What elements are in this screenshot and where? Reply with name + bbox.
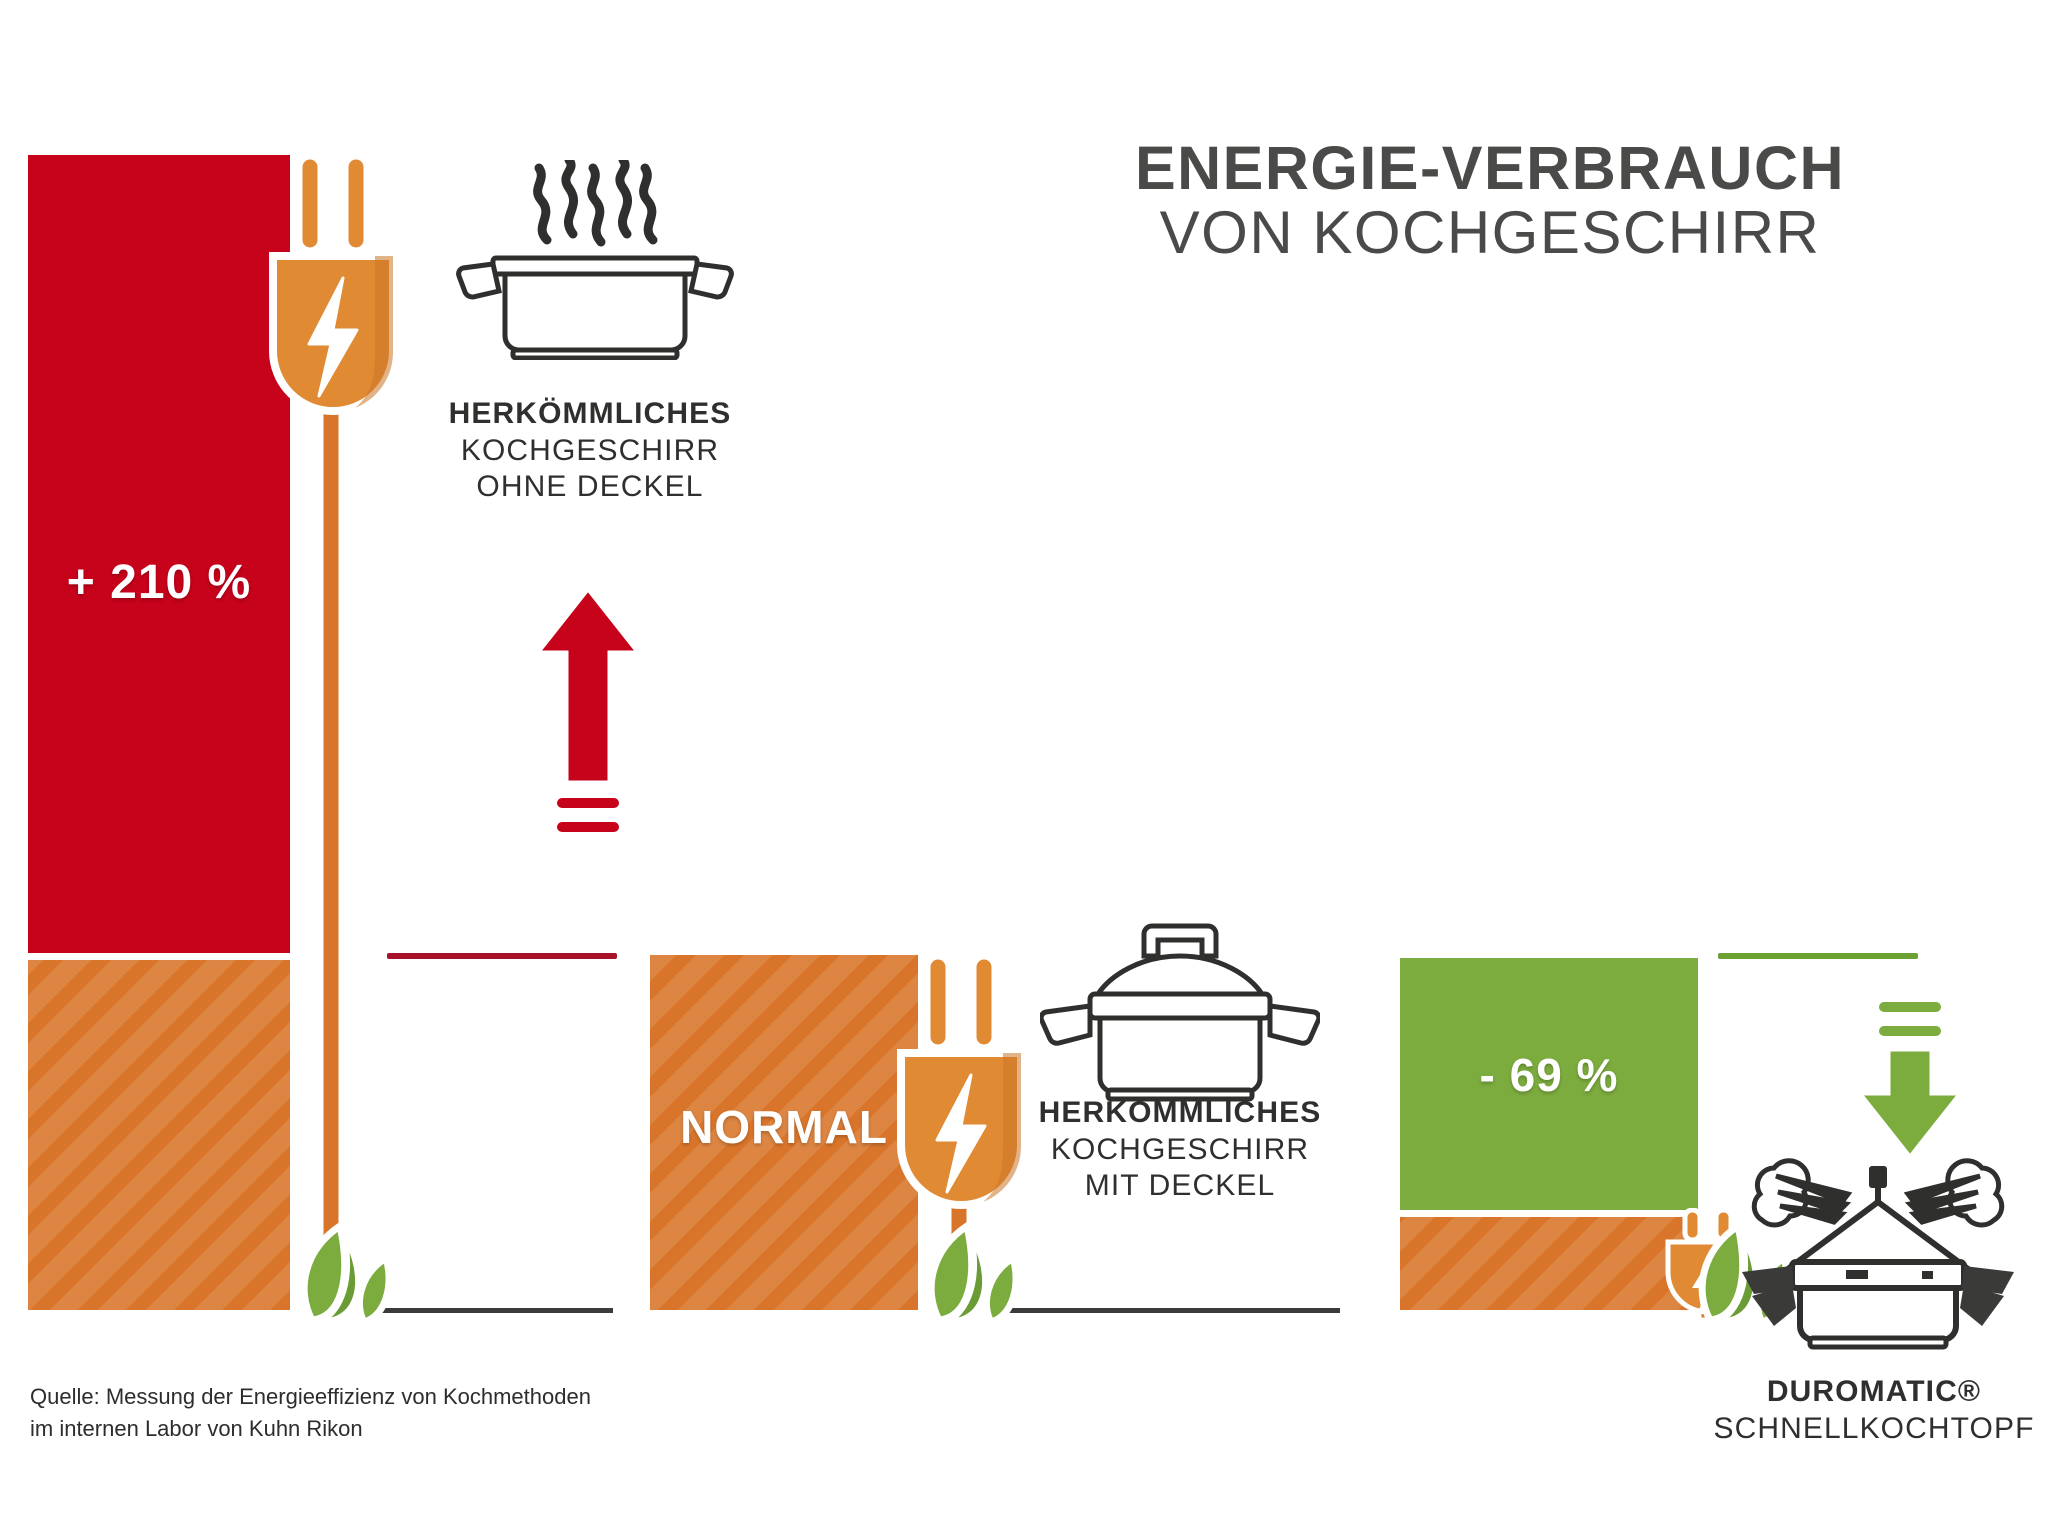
caption-bar-2: HERKÖMMLICHES KOCHGESCHIRR MIT DECKEL xyxy=(1010,1095,1350,1205)
bar-segment-red xyxy=(28,155,290,960)
bar-segment-orange xyxy=(650,955,918,1310)
source-note: Quelle: Messung der Energieeffizienz von… xyxy=(30,1381,770,1445)
bar-duromatic: - 69 % xyxy=(1400,958,1698,1310)
caption-line-3: MIT DECKEL xyxy=(1010,1168,1350,1205)
power-plug-icon xyxy=(265,148,400,1308)
arrow-up-red xyxy=(533,586,643,840)
leaves-icon xyxy=(290,1222,400,1327)
pressure-cooker-icon xyxy=(1738,1148,2018,1353)
caption-line-1: HERKÖMMLICHES xyxy=(1010,1095,1350,1132)
caption-bar-3: DUROMATIC® SCHNELLKOCHTOPF xyxy=(1700,1374,2048,1447)
bar-segment-divider xyxy=(28,953,290,960)
bar-segment-orange-base xyxy=(28,960,290,1310)
caption-line-3: OHNE DECKEL xyxy=(420,469,760,506)
caption-line-2: KOCHGESCHIRR xyxy=(1010,1132,1350,1169)
leaves-icon xyxy=(917,1222,1027,1327)
caption-bar-1: HERKÖMMLICHES KOCHGESCHIRR OHNE DECKEL xyxy=(420,396,760,506)
title-line-1: ENERGIE-VERBRAUCH xyxy=(1010,138,1970,199)
caption-line-1: DUROMATIC® xyxy=(1700,1374,2048,1411)
caption-line-2: SCHNELLKOCHTOPF xyxy=(1700,1411,2048,1448)
bar-conventional-no-lid: + 210 % xyxy=(28,155,290,1310)
baseline-bar-1 xyxy=(378,1308,613,1313)
arrow-down-green xyxy=(1855,1000,1965,1160)
bar-segment-divider xyxy=(1400,1210,1698,1217)
lidded-pot-icon xyxy=(1040,920,1320,1105)
refline-red xyxy=(387,953,617,959)
caption-line-1: HERKÖMMLICHES xyxy=(420,396,760,433)
infographic-canvas: ENERGIE-VERBRAUCH VON KOCHGESCHIRR + 210… xyxy=(0,0,2048,1536)
bar-conventional-with-lid: NORMAL xyxy=(650,955,918,1310)
open-pot-steam-icon xyxy=(455,160,735,360)
refline-green xyxy=(1718,953,1918,959)
title-line-2: VON KOCHGESCHIRR xyxy=(1010,199,1970,266)
page-title: ENERGIE-VERBRAUCH VON KOCHGESCHIRR xyxy=(1010,138,1970,266)
baseline-bar-2 xyxy=(1000,1308,1340,1313)
bar-segment-orange-base xyxy=(1400,1217,1698,1310)
caption-line-2: KOCHGESCHIRR xyxy=(420,433,760,470)
bar-segment-green xyxy=(1400,958,1698,1216)
